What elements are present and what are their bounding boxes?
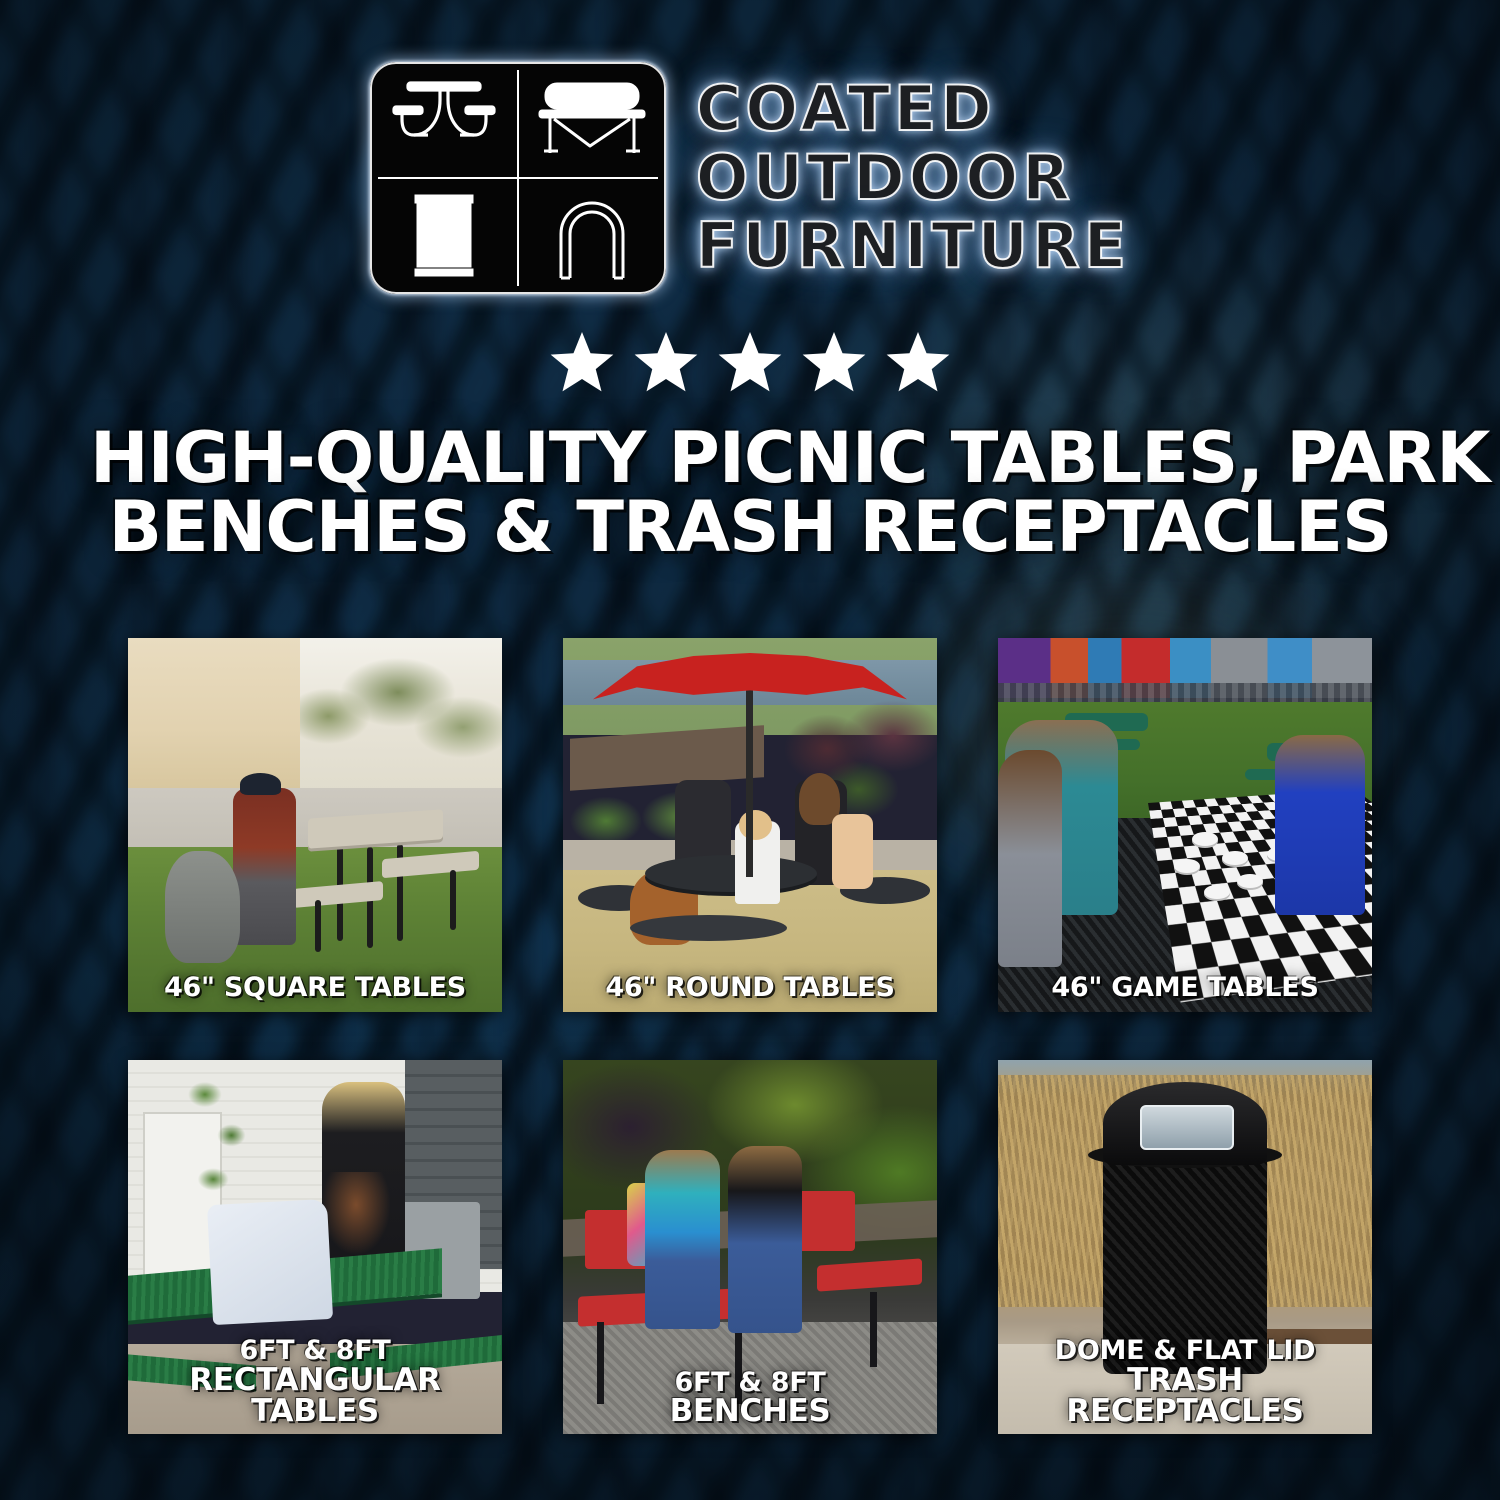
- product-grid: 46" SQUARE TABLES: [128, 638, 1372, 1434]
- product-caption-trash-receptacles-line2: TRASH RECEPTACLES: [1004, 1365, 1366, 1428]
- headline-line-1: HIGH-QUALITY PICNIC TABLES, PARK: [90, 424, 1410, 493]
- star-icon: [801, 330, 867, 394]
- product-photo-round-tables: [563, 638, 937, 1012]
- product-tile-game-tables[interactable]: 46" GAME TABLES: [998, 638, 1372, 1012]
- product-caption-rectangular-tables-line2: RECTANGULAR TABLES: [134, 1365, 496, 1428]
- advertisement-canvas: COATED OUTDOOR FURNITURE HIGH-QUALITY PI…: [0, 0, 1500, 1500]
- product-caption-rectangular-tables: 6FT & 8FT RECTANGULAR TABLES: [128, 1337, 502, 1428]
- page-title: HIGH-QUALITY PICNIC TABLES, PARK BENCHES…: [0, 424, 1500, 561]
- product-tile-square-tables[interactable]: 46" SQUARE TABLES: [128, 638, 502, 1012]
- bike-rack-icon: [518, 178, 666, 294]
- brand-lockup: COATED OUTDOOR FURNITURE: [0, 0, 1500, 294]
- product-grid-row-1: 46" SQUARE TABLES: [128, 638, 1372, 1012]
- rating-stars: [0, 330, 1500, 394]
- product-caption-benches: 6FT & 8FT BENCHES: [563, 1369, 937, 1428]
- product-caption-trash-receptacles: DOME & FLAT LID TRASH RECEPTACLES: [998, 1337, 1372, 1428]
- star-icon: [885, 330, 951, 394]
- headline-line-2: BENCHES & TRASH RECEPTACLES: [90, 493, 1410, 562]
- brand-wordmark: COATED OUTDOOR FURNITURE: [696, 76, 1130, 281]
- product-tile-rectangular-tables[interactable]: 6FT & 8FT RECTANGULAR TABLES: [128, 1060, 502, 1434]
- product-caption-benches-line2: BENCHES: [569, 1396, 931, 1428]
- brand-word-1: COATED: [696, 76, 1130, 143]
- header: COATED OUTDOOR FURNITURE HIGH-QUALITY PI…: [0, 0, 1500, 561]
- product-caption-rectangular-tables-line1: 6FT & 8FT: [134, 1337, 496, 1365]
- product-caption-square-tables: 46" SQUARE TABLES: [128, 974, 502, 1002]
- product-tile-trash-receptacles[interactable]: DOME & FLAT LID TRASH RECEPTACLES: [998, 1060, 1372, 1434]
- product-photo-game-tables: [998, 638, 1372, 1012]
- park-bench-icon: [518, 62, 666, 178]
- product-caption-game-tables: 46" GAME TABLES: [998, 974, 1372, 1002]
- product-grid-row-2: 6FT & 8FT RECTANGULAR TABLES: [128, 1060, 1372, 1434]
- brand-word-2: OUTDOOR: [696, 145, 1130, 212]
- product-tile-round-tables[interactable]: 46" ROUND TABLES: [563, 638, 937, 1012]
- product-tile-benches[interactable]: 6FT & 8FT BENCHES: [563, 1060, 937, 1434]
- brand-word-3: FURNITURE: [696, 213, 1130, 280]
- product-photo-square-tables: [128, 638, 502, 1012]
- product-caption-round-tables: 46" ROUND TABLES: [563, 974, 937, 1002]
- trash-receptacle-icon: [370, 178, 518, 294]
- star-icon: [549, 330, 615, 394]
- brand-logo-mark: [370, 62, 666, 294]
- logo-divider-horizontal: [378, 177, 658, 179]
- star-icon: [717, 330, 783, 394]
- picnic-table-icon: [370, 62, 518, 178]
- star-icon: [633, 330, 699, 394]
- product-caption-trash-receptacles-line1: DOME & FLAT LID: [1004, 1337, 1366, 1365]
